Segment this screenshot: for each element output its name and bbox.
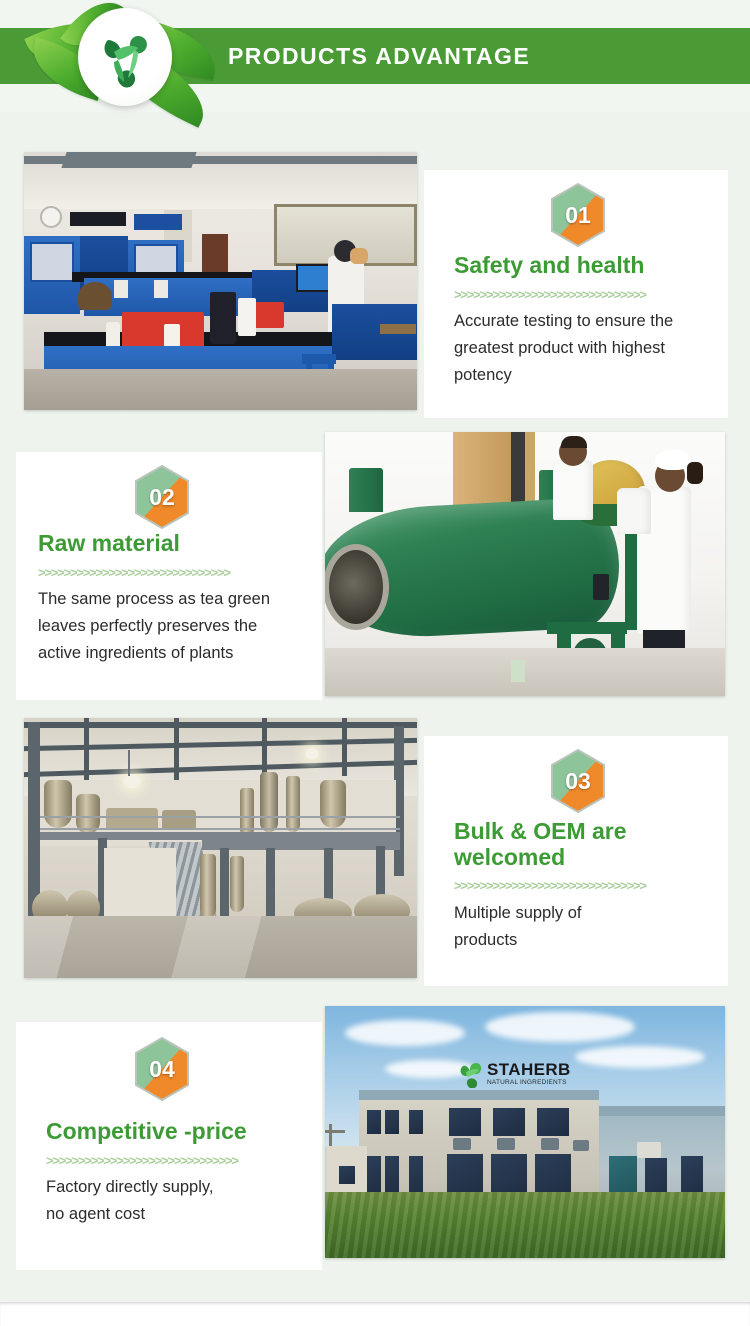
card-description: Multiple supply of products [454, 900, 718, 954]
building-tagline: NATURAL INGREDIENTS [487, 1079, 567, 1086]
chevron-divider: >>>>>>>>>>>>>>>>>>>>>>>>>>>>>> [38, 565, 296, 580]
card-text-01: 01 Safety and health >>>>>>>>>>>>>>>>>>>… [424, 170, 728, 418]
molecule-leaf-icon [88, 18, 162, 96]
chevron-divider: >>>>>>>>>>>>>>>>>>>>>>>>>>>>>> [454, 878, 706, 893]
page-bottom-edge [0, 1302, 750, 1326]
chevron-divider: >>>>>>>>>>>>>>>>>>>>>>>>>>>>>> [46, 1153, 302, 1168]
building-brand: STAHERB [487, 1060, 571, 1080]
badge-number: 03 [548, 748, 608, 814]
card-description: The same process as tea green leaves per… [38, 586, 314, 667]
card-text-04: 04 Competitive -price >>>>>>>>>>>>>>>>>>… [16, 1022, 322, 1270]
staherb-logo-icon [457, 1060, 483, 1088]
page-title: PRODUCTS ADVANTAGE [228, 28, 530, 84]
card-title: Raw material [38, 530, 306, 556]
tea-processing-machine-photo [325, 432, 725, 696]
laboratory-testing-photo [24, 152, 417, 410]
card-description: Accurate testing to ensure the greatest … [454, 308, 718, 389]
brand-logo [26, 2, 226, 112]
card-title: Safety and health [454, 252, 716, 278]
badge-hex-02: 02 [132, 464, 192, 530]
badge-number: 01 [548, 182, 608, 248]
staherb-factory-building-photo: STAHERB NATURAL INGREDIENTS [325, 1006, 725, 1258]
page-header: PRODUCTS ADVANTAGE [0, 0, 750, 112]
chevron-divider: >>>>>>>>>>>>>>>>>>>>>>>>>>>>>> [454, 287, 706, 302]
card-title: Bulk & OEM are welcomed [454, 818, 716, 870]
badge-number: 02 [132, 464, 192, 530]
extraction-factory-interior-photo [24, 718, 417, 978]
building-sign: STAHERB NATURAL INGREDIENTS [457, 1060, 571, 1090]
card-text-03: 03 Bulk & OEM are welcomed >>>>>>>>>>>>>… [424, 736, 728, 986]
card-title: Competitive -price [46, 1118, 316, 1144]
badge-number: 04 [132, 1036, 192, 1102]
logo-circle [78, 8, 172, 106]
badge-hex-04: 04 [132, 1036, 192, 1102]
card-text-02: 02 Raw material >>>>>>>>>>>>>>>>>>>>>>>>… [16, 452, 322, 700]
badge-hex-01: 01 [548, 182, 608, 248]
badge-hex-03: 03 [548, 748, 608, 814]
card-description: Factory directly supply, no agent cost [46, 1174, 312, 1228]
products-advantage-page: PRODUCTS ADVANTAGE [0, 0, 750, 1326]
